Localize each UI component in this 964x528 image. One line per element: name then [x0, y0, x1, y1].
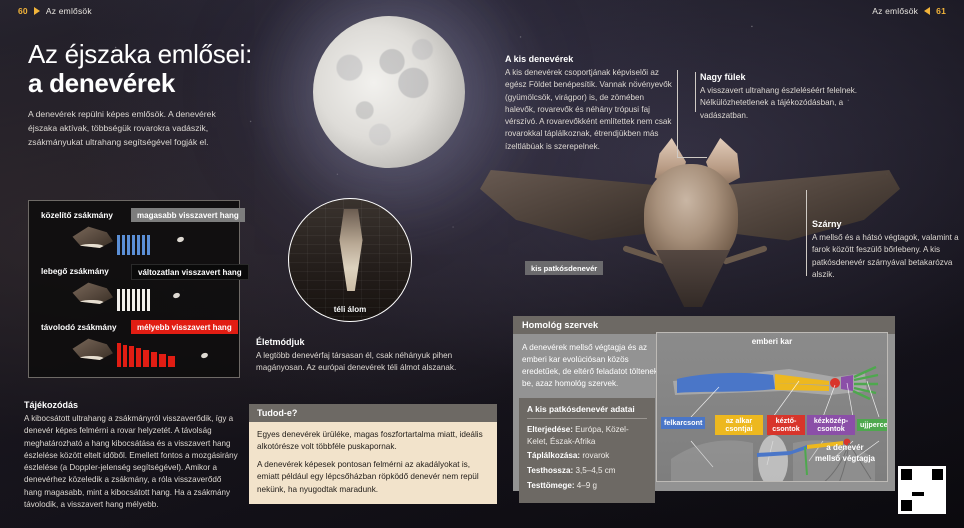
echo-row-approaching: közelítő zsákmány magasabb visszavert ha… [29, 207, 239, 263]
callout-szárny: Szárny A mellső és a hátsó végtagok, val… [812, 219, 960, 281]
phalanx-bones [853, 367, 878, 399]
callout-nagy-fülek: Nagy fülek A visszavert ultrahang észlel… [700, 72, 872, 122]
did-you-know-panel: Tudod-e? Egyes denevérek ürüléke, magas … [249, 404, 497, 504]
page-title: Az éjszaka emlősei: a denevérek [28, 40, 328, 98]
page-title-line1: Az éjszaka emlősei: [28, 40, 328, 69]
callout-body: A kis denevérek csoportjának képviselői … [505, 67, 673, 153]
callout-életmódjuk: Életmódjuk A legtöbb denevérfaj társasan… [256, 337, 478, 375]
qr-code-grid [901, 469, 943, 511]
echo-row-hovering: lebegő zsákmány változatlan visszavert h… [29, 263, 239, 319]
moth-icon [69, 281, 113, 309]
prey-dot-icon [172, 292, 180, 299]
bat-wing-left [480, 170, 660, 256]
echo-row-echo-tag: változatlan visszavert hang [131, 264, 249, 280]
callout-heading: Nagy fülek [700, 72, 872, 82]
echo-row-prey-label: lebegő zsákmány [41, 267, 109, 276]
bone-caption-bat-forelimb: a denevér mellső végtagja [815, 443, 875, 465]
callout-body: A kibocsátott ultrahang a zsákmányról vi… [24, 413, 238, 511]
callout-heading: Szárny [812, 219, 960, 229]
species-data-list: Elterjedése: Európa, Közel-Kelet, Észak-… [527, 424, 647, 492]
running-title-right: Az emlősök [872, 6, 918, 16]
label-kis-patkósdenevér: kis patkósdenevér [525, 261, 603, 275]
echo-bars-low [117, 343, 175, 367]
moon-photo [313, 16, 465, 168]
intro-paragraph: A denevérek repülni képes emlősök. A den… [28, 108, 246, 150]
species-data-label: Testtömege: [527, 481, 575, 490]
species-data-heading: A kis patkósdenevér adatai [527, 404, 647, 419]
bone-chip-kézközép-csontok: kézközép- csontok [807, 415, 855, 435]
echo-row-receding: távolodó zsákmány mélyebb visszavert han… [29, 319, 239, 375]
species-data-value: 4–9 g [577, 481, 597, 490]
leader-line-kis-denevérek-elbow [677, 157, 707, 158]
species-data-row: Testhossza: 3,5–4,5 cm [527, 465, 647, 477]
leader-line-nagy-fülek [695, 72, 696, 112]
species-data-row: Testtömege: 4–9 g [527, 480, 647, 492]
echo-diagram-panel: közelítő zsákmány magasabb visszavert ha… [28, 200, 240, 378]
leader-line-szárny [806, 190, 807, 276]
bat-tail-membrane [656, 250, 730, 312]
echo-row-prey-label: távolodó zsákmány [41, 323, 117, 332]
callout-tájékozódás: Tájékozódás A kibocsátott ultrahang a zs… [24, 400, 238, 511]
moth-belly [79, 244, 105, 251]
running-title-left: Az emlősök [46, 6, 92, 16]
bone-chip-felkarcsont: felkarcsont [661, 417, 705, 429]
echo-bars-same [117, 287, 150, 311]
species-data-row: Elterjedése: Európa, Közel-Kelet, Észak-… [527, 424, 647, 447]
echo-bars-high [117, 231, 150, 255]
echo-row-echo-tag: magasabb visszavert hang [131, 208, 245, 222]
species-data-box: A kis patkósdenevér adatai Elterjedése: … [519, 398, 655, 503]
leader-line-kis-denevérek [677, 70, 678, 158]
moth-icon [69, 225, 113, 253]
callout-body: A legtöbb denevérfaj társasan él, csak n… [256, 350, 478, 375]
bone-chip-ujjpercek: ujjpercek [857, 419, 888, 431]
did-you-know-paragraph-1: Egyes denevérek ürüléke, magas foszforta… [257, 429, 489, 454]
callout-kis-denevérek: A kis denevérek A kis denevérek csoportj… [505, 54, 673, 153]
moth-belly [79, 300, 105, 307]
bone-chip-kéztő-csontok: kéztő- csontok [767, 415, 805, 435]
species-data-value: 3,5–4,5 cm [575, 466, 615, 475]
species-data-label: Elterjedése: [527, 425, 573, 434]
magazine-spread: 60 Az emlősök Az emlősök 61 Az éjszaka e… [0, 0, 964, 528]
moth-icon [69, 337, 113, 365]
callout-body: A mellső és a hátsó végtagok, valamint a… [812, 232, 960, 281]
callout-body: A visszavert ultrahang észleléséért fele… [700, 85, 872, 122]
moth-belly [79, 356, 105, 363]
triangle-right-icon [34, 7, 40, 15]
species-data-label: Táplálkozása: [527, 451, 580, 460]
species-data-value: rovarok [582, 451, 609, 460]
bone-comparison-diagram: emberi kar [656, 332, 888, 482]
triangle-left-icon [924, 7, 930, 15]
did-you-know-body: Egyes denevérek ürüléke, magas foszforta… [249, 422, 497, 504]
did-you-know-heading: Tudod-e? [249, 404, 497, 422]
species-data-row: Táplálkozása: rovarok [527, 450, 647, 462]
callout-heading: Életmódjuk [256, 337, 478, 347]
hibernation-photo-circle: téli álom [288, 198, 412, 322]
carpal-bones [830, 378, 840, 388]
prey-dot-icon [176, 236, 184, 243]
callout-heading: Tájékozódás [24, 400, 238, 410]
running-head-left: 60 Az emlősök [18, 6, 92, 16]
folio-right: 61 [936, 6, 946, 16]
qr-code[interactable] [898, 466, 946, 514]
did-you-know-paragraph-2: A denevérek képesek pontosan felmérni az… [257, 459, 489, 496]
bat-wing-left-outline [671, 440, 753, 482]
echo-row-prey-label: közelítő zsákmány [41, 211, 113, 220]
bone-caption-bat-line2: mellső végtagja [815, 454, 875, 465]
humerus-bone [677, 373, 775, 393]
prey-dot-icon [200, 352, 208, 359]
homologous-organs-text: A denevérek mellső végtagja és az emberi… [522, 342, 658, 391]
species-data-label: Testhossza: [527, 466, 573, 475]
bone-caption-bat-line1: a denevér [815, 443, 875, 454]
page-title-line2: a denevérek [28, 69, 328, 98]
bone-chip-alkar-csontjai: az alkar csontjai [715, 415, 763, 435]
running-head-right: Az emlősök 61 [872, 6, 946, 16]
echo-row-echo-tag: mélyebb visszavert hang [131, 320, 238, 334]
folio-left: 60 [18, 6, 28, 16]
bat-body-outline [758, 435, 788, 482]
callout-heading: A kis denevérek [505, 54, 673, 64]
caption-téli-álom: téli álom [289, 305, 411, 314]
